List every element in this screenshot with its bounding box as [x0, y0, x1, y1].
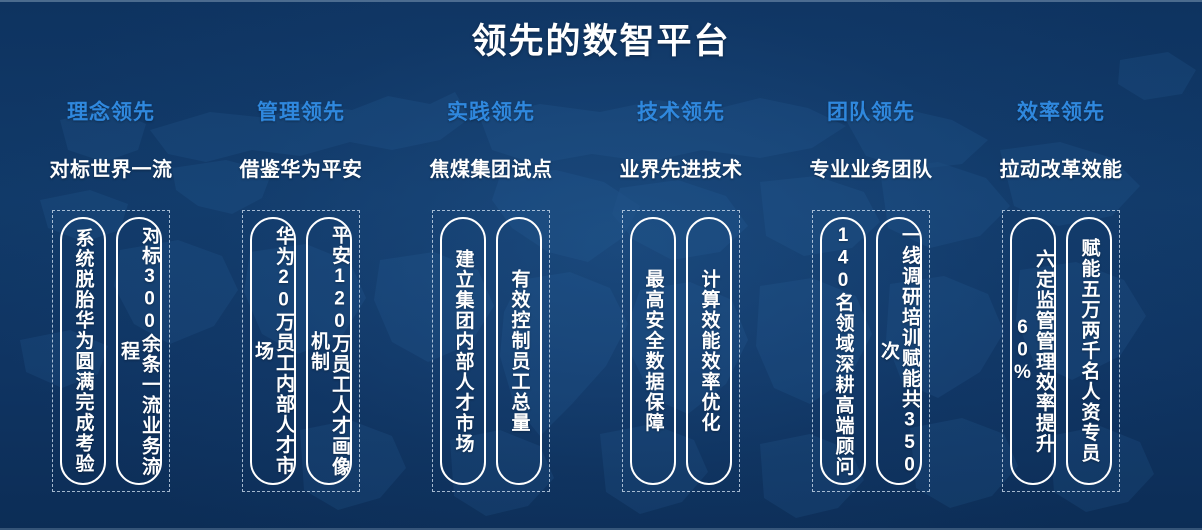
- pillar-pill-group-5: 140名领域深耕高端顾问 一线调研培训赋能共350次: [812, 210, 930, 492]
- pillar-subheading-1: 对标世界一流: [50, 158, 173, 182]
- pill-label: 计算效能效率优化: [699, 269, 720, 433]
- pillar-columns: 理念领先 对标世界一流 系统脱胎华为圆满完成考验 对标300余条一流业务流程 管…: [16, 100, 1186, 492]
- pillar-pill-group-4: 最高安全数据保障 计算效能效率优化: [622, 210, 740, 492]
- pillar-heading-3: 实践领先: [447, 100, 535, 126]
- pillar-column-5: 团队领先 专业业务团队 140名领域深耕高端顾问 一线调研培训赋能共350次: [776, 100, 966, 492]
- pillar-column-2: 管理领先 借鉴华为平安 华为20万员工内部人才市场 平安120万员工人才画像机制: [206, 100, 396, 492]
- slide-canvas: 领先的数智平台 理念领先 对标世界一流 系统脱胎华为圆满完成考验 对标300余条…: [0, 0, 1202, 530]
- pill-label: 一线调研培训赋能共350次: [878, 225, 920, 477]
- pillar-pill-group-6: 六定监管管理效率提升60% 赋能五万两千名人资专员: [1002, 210, 1120, 492]
- pill-item[interactable]: 华为20万员工内部人才市场: [250, 217, 296, 485]
- pill-item[interactable]: 一线调研培训赋能共350次: [876, 217, 922, 485]
- pillar-column-4: 技术领先 业界先进技术 最高安全数据保障 计算效能效率优化: [586, 100, 776, 492]
- pillar-subheading-3: 焦煤集团试点: [430, 158, 553, 182]
- pillar-subheading-5: 专业业务团队: [810, 158, 933, 182]
- pill-label: 平安120万员工人才画像机制: [308, 225, 350, 477]
- pillar-pill-group-3: 建立集团内部人才市场 有效控制员工总量: [432, 210, 550, 492]
- pill-item[interactable]: 140名领域深耕高端顾问: [820, 217, 866, 485]
- pillar-pill-group-1: 系统脱胎华为圆满完成考验 对标300余条一流业务流程: [52, 210, 170, 492]
- pill-item[interactable]: 赋能五万两千名人资专员: [1066, 217, 1112, 485]
- pillar-subheading-6: 拉动改革效能: [1000, 158, 1123, 182]
- pill-item[interactable]: 计算效能效率优化: [686, 217, 732, 485]
- pillar-subheading-4: 业界先进技术: [620, 158, 743, 182]
- pill-item[interactable]: 平安120万员工人才画像机制: [306, 217, 352, 485]
- pillar-column-6: 效率领先 拉动改革效能 六定监管管理效率提升60% 赋能五万两千名人资专员: [966, 100, 1156, 492]
- pillar-heading-4: 技术领先: [637, 100, 725, 126]
- top-divider: [0, 0, 1202, 2]
- pill-label: 建立集团内部人才市场: [453, 249, 474, 454]
- pillar-heading-2: 管理领先: [257, 100, 345, 126]
- pill-label: 华为20万员工内部人才市场: [252, 225, 294, 477]
- pillar-heading-5: 团队领先: [827, 100, 915, 126]
- pill-label: 对标300余条一流业务流程: [118, 225, 160, 477]
- pill-item[interactable]: 建立集团内部人才市场: [440, 217, 486, 485]
- pill-item[interactable]: 对标300余条一流业务流程: [116, 217, 162, 485]
- pill-label: 最高安全数据保障: [643, 269, 664, 433]
- pillar-subheading-2: 借鉴华为平安: [240, 158, 363, 182]
- page-title: 领先的数智平台: [0, 20, 1202, 64]
- pillar-column-1: 理念领先 对标世界一流 系统脱胎华为圆满完成考验 对标300余条一流业务流程: [16, 100, 206, 492]
- pillar-column-3: 实践领先 焦煤集团试点 建立集团内部人才市场 有效控制员工总量: [396, 100, 586, 492]
- pill-label: 六定监管管理效率提升60%: [1012, 225, 1054, 477]
- pillar-heading-1: 理念领先: [67, 100, 155, 126]
- pill-label: 140名领域深耕高端顾问: [833, 225, 854, 477]
- pill-label: 有效控制员工总量: [509, 269, 530, 433]
- pill-label: 赋能五万两千名人资专员: [1079, 238, 1100, 464]
- pill-item[interactable]: 六定监管管理效率提升60%: [1010, 217, 1056, 485]
- pill-label: 系统脱胎华为圆满完成考验: [73, 228, 94, 474]
- pill-item[interactable]: 有效控制员工总量: [496, 217, 542, 485]
- pill-item[interactable]: 最高安全数据保障: [630, 217, 676, 485]
- pill-item[interactable]: 系统脱胎华为圆满完成考验: [60, 217, 106, 485]
- pillar-pill-group-2: 华为20万员工内部人才市场 平安120万员工人才画像机制: [242, 210, 360, 492]
- pillar-heading-6: 效率领先: [1017, 100, 1105, 126]
